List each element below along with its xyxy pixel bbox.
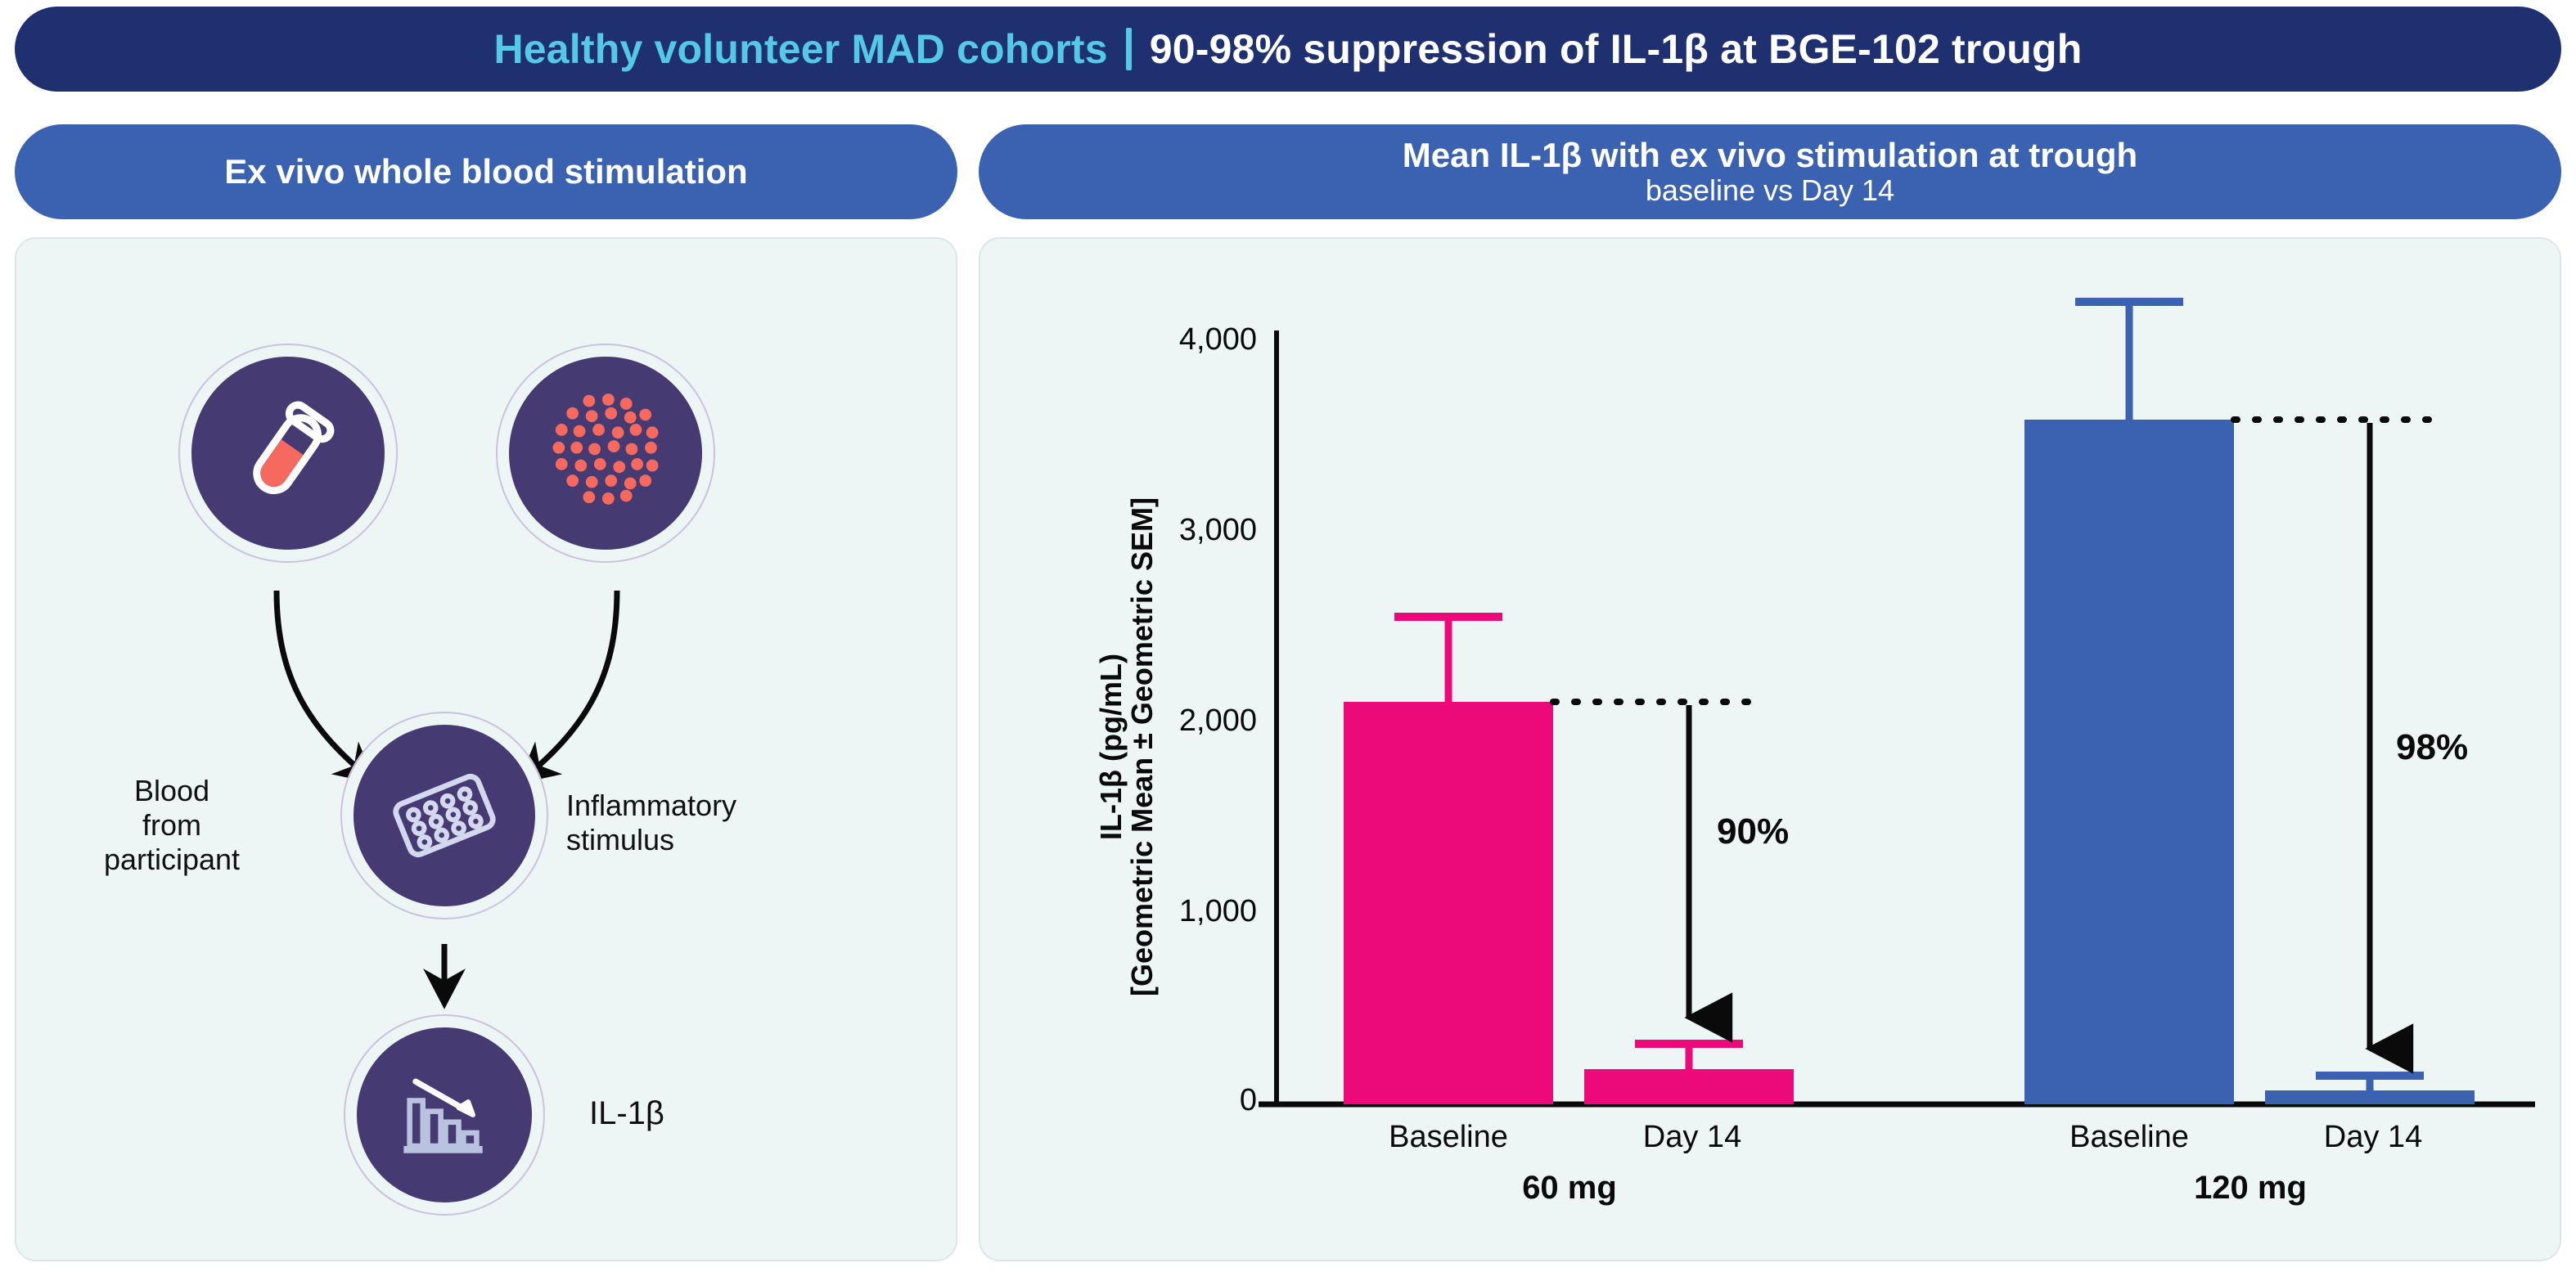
x-label-120mg-day14: Day 14 [2226,1121,2520,1155]
well-plate-icon [342,713,547,918]
stimulus-label-line-2: stimulus [566,823,804,857]
headline-right-text: 90-98% suppression of IL-1β at BGE-102 t… [1150,25,2083,73]
left-panel-header-title: Ex vivo whole blood stimulation [224,152,747,191]
arrow-blood-to-plate [277,591,370,779]
stimulus-label-line-1: Inflammatory [566,789,804,823]
right-panel-header-subtitle: baseline vs Day 14 [1646,174,1894,207]
arrow-stimulus-to-plate [524,591,617,779]
left-panel-header: Ex vivo whole blood stimulation [15,124,957,219]
blood-label-line-3: participant [65,843,278,877]
suppression-label-120mg: 98% [2396,727,2468,768]
x-label-120mg-day14-text: Day 14 [2226,1121,2520,1155]
ex-vivo-diagram: Blood from participant Inflammatory stim… [16,239,956,1260]
slide-root: Healthy volunteer MAD cohorts 90-98% sup… [0,0,2576,1272]
bar-60mg-baseline [1344,702,1553,1104]
x-label-60mg-day14: Day 14 [1545,1121,1840,1155]
declining-bar-chart-icon [345,1016,543,1214]
il1b-bar-chart: IL-1β (pg/mL) [Geometric Mean ± Geometri… [980,239,2560,1260]
blood-label-line-1: Blood [65,774,278,808]
blood-label-line-2: from [65,808,278,843]
headline-banner-content: Healthy volunteer MAD cohorts 90-98% sup… [493,25,2082,73]
blood-tube-icon [180,345,396,561]
test-tube-glyph [227,392,349,515]
bar-120mg-day14 [2265,1090,2475,1104]
microplate-glyph [383,754,506,877]
headline-banner: Healthy volunteer MAD cohorts 90-98% sup… [15,7,2561,92]
stimulus-dots-glyph [537,384,674,522]
inflammatory-stimulus-icon [498,345,714,561]
x-group-label-60mg: 60 mg [1340,1165,1799,1206]
bar-60mg-day14 [1584,1069,1794,1104]
chart-plot-svg [980,239,2563,1263]
x-group-label-60mg-text: 60 mg [1340,1170,1799,1206]
il1b-bar-chart-panel: IL-1β (pg/mL) [Geometric Mean ± Geometri… [979,237,2561,1261]
right-panel-header-title: Mean IL-1β with ex vivo stimulation at t… [1403,136,2137,174]
right-panel-header: Mean IL-1β with ex vivo stimulation at t… [979,124,2561,219]
ex-vivo-diagram-panel: Blood from participant Inflammatory stim… [15,237,957,1261]
decline-glyph [385,1055,504,1175]
blood-source-label: Blood from participant [65,774,278,876]
x-label-60mg-day14-text: Day 14 [1545,1121,1840,1155]
x-group-label-120mg-text: 120 mg [2021,1170,2479,1206]
readout-label: IL-1β [589,1094,664,1132]
headline-left-text: Healthy volunteer MAD cohorts [493,25,1107,73]
x-group-label-120mg: 120 mg [2021,1165,2479,1206]
suppression-label-60mg: 90% [1717,811,1789,852]
stimulus-label: Inflammatory stimulus [566,789,804,857]
bar-120mg-baseline [2024,420,2234,1104]
vertical-bar-icon [1126,28,1132,70]
